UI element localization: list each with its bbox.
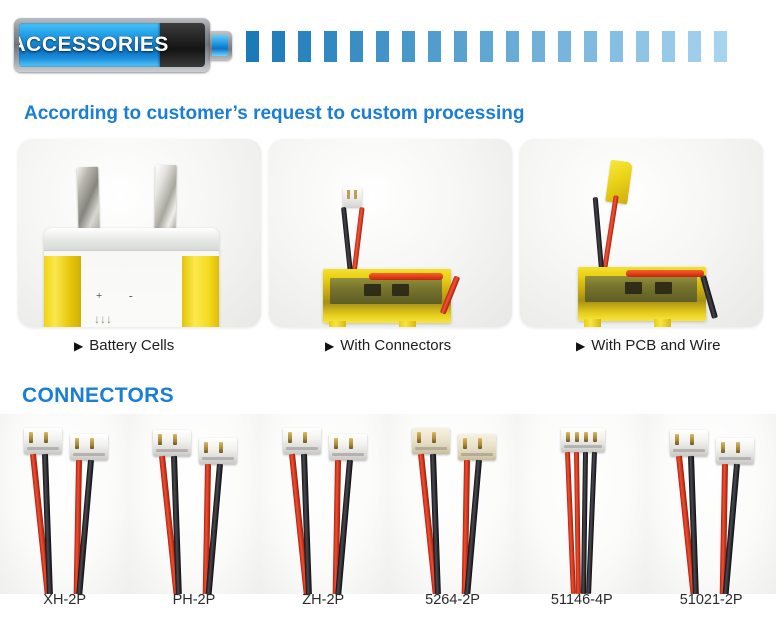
connector-pin	[303, 432, 307, 443]
cell-body: + - ↓↓↓	[44, 228, 219, 327]
connector-pin	[575, 432, 579, 442]
connector-pin	[347, 190, 350, 199]
connector-label: PH-2P	[129, 592, 258, 608]
pack-red-wire	[602, 195, 619, 269]
pack-leg-right	[654, 319, 671, 327]
caption-label: With PCB and Wire	[591, 337, 720, 354]
connectors-section-title: CONNECTORS	[22, 384, 174, 408]
pcb-chip	[364, 284, 381, 296]
caption-label: With Connectors	[340, 337, 451, 354]
connector-image-51146-4p[interactable]	[517, 414, 646, 594]
header-dash	[532, 31, 545, 62]
pack-black-wire	[593, 197, 605, 273]
connector-label: 51021-2P	[646, 592, 775, 608]
header-dash	[350, 31, 363, 62]
cell-secondary-marks: ↓↓↓	[94, 312, 112, 327]
connector-housing	[561, 428, 605, 452]
header-dash	[688, 31, 701, 62]
header-dash	[662, 31, 675, 62]
connector-pin	[29, 432, 33, 443]
connector-slot	[332, 453, 364, 456]
connector-slot	[73, 453, 105, 456]
connector-housing	[24, 428, 62, 454]
connector-housing	[199, 438, 237, 464]
battery-cell-photo: + - ↓↓↓	[18, 139, 261, 327]
triangle-bullet-icon: ▶	[74, 340, 83, 352]
connector-pin	[158, 434, 162, 445]
connector-housing	[670, 430, 708, 456]
connector-housing	[153, 430, 191, 456]
connector-pin	[334, 438, 338, 449]
connector-black-wire	[586, 452, 597, 594]
connector-red-wire	[574, 452, 581, 594]
connector-housing	[716, 438, 754, 464]
connector-pin	[75, 438, 79, 449]
connector-label: 5264-2P	[388, 592, 517, 608]
connector-pin	[463, 438, 467, 449]
header-dash	[506, 31, 519, 62]
header-dash	[428, 31, 441, 62]
pack-illustration-pcb-wire	[520, 139, 763, 327]
connector-slot	[156, 449, 188, 452]
connector-slot	[719, 457, 751, 460]
connector-pin	[349, 438, 353, 449]
connector-pin	[566, 432, 570, 442]
connector-pin	[90, 438, 94, 449]
connector-housing	[412, 428, 450, 454]
header-dash	[402, 31, 415, 62]
pack-body	[323, 269, 451, 323]
connector-pin	[593, 432, 597, 442]
connector-pin	[584, 432, 588, 442]
cell-tape-right	[182, 256, 219, 327]
connector-label: 51146-4P	[517, 592, 646, 608]
connector-slot	[415, 447, 447, 450]
header-dash	[454, 31, 467, 62]
battery-icon: ACCESSORIES	[14, 18, 232, 72]
cell-illustration: + - ↓↓↓	[18, 139, 261, 327]
connector-housing	[70, 434, 108, 460]
header-dash	[376, 31, 389, 62]
connector-label: ZH-2P	[259, 592, 388, 608]
header-dash-strip	[246, 31, 740, 62]
pack-leg-right	[399, 321, 416, 327]
connector-slot	[202, 457, 234, 460]
connector-slot	[673, 449, 705, 452]
header-dash	[714, 31, 727, 62]
connector-pin	[44, 432, 48, 443]
pack-leg-left	[329, 321, 346, 327]
connector-housing	[458, 434, 496, 460]
battery-cap-inner	[212, 35, 228, 56]
header-dash	[610, 31, 623, 62]
connector-pin	[721, 442, 725, 453]
connector-pin	[219, 442, 223, 453]
pack-connector-head	[343, 187, 362, 207]
caption-label: Battery Cells	[89, 337, 174, 354]
connector-slot	[286, 447, 318, 450]
connector-pin	[417, 432, 421, 443]
connector-housing	[283, 428, 321, 454]
header-dash	[298, 31, 311, 62]
header-dash	[324, 31, 337, 62]
cell-tape-left	[44, 256, 81, 327]
caption-battery-cells: ▶ Battery Cells	[18, 337, 261, 354]
connector-pin	[354, 190, 357, 199]
connector-slot	[27, 447, 59, 450]
photo-row: + - ↓↓↓	[18, 139, 758, 329]
connector-image-zh-2p[interactable]	[259, 414, 388, 594]
pack-pcb	[330, 278, 442, 304]
connector-image-5264-2p[interactable]	[388, 414, 517, 594]
header-dash	[480, 31, 493, 62]
with-pcb-and-wire-photo	[520, 139, 763, 327]
cell-seal	[44, 228, 219, 251]
connector-pin	[173, 434, 177, 445]
page-header: ACCESSORIES	[0, 0, 776, 92]
connector-pin	[288, 432, 292, 443]
pack-yellow-flag	[605, 160, 633, 205]
battery-inner: ACCESSORIES	[19, 23, 205, 67]
connector-image-xh-2p[interactable]	[0, 414, 129, 594]
with-connectors-photo	[269, 139, 512, 327]
connector-pin	[690, 434, 694, 445]
connector-image-51021-2p[interactable]	[646, 414, 775, 594]
battery-cap	[210, 31, 232, 60]
connector-housing	[329, 434, 367, 460]
header-dash	[636, 31, 649, 62]
connector-pin	[478, 438, 482, 449]
cell-polarity-marks: + -	[96, 290, 171, 302]
triangle-bullet-icon: ▶	[576, 340, 585, 352]
header-dash	[558, 31, 571, 62]
pack-red-tape	[626, 270, 704, 277]
pack-leg-left	[584, 319, 601, 327]
connector-slot	[461, 453, 493, 456]
header-dash	[584, 31, 597, 62]
connector-label-row: XH-2PPH-2PZH-2P5264-2P51146-4P51021-2P	[0, 592, 776, 608]
connector-image-ph-2p[interactable]	[129, 414, 258, 594]
page-title: According to customer’s request to custo…	[24, 103, 524, 125]
pack-red-tape	[369, 273, 443, 280]
caption-with-pcb-and-wire: ▶ With PCB and Wire	[520, 337, 763, 354]
pcb-chip	[625, 282, 642, 294]
pack-illustration-connectors	[269, 139, 512, 327]
connector-gallery	[0, 414, 776, 594]
header-dash	[272, 31, 285, 62]
triangle-bullet-icon: ▶	[325, 340, 334, 352]
accessories-badge-label: ACCESSORIES	[19, 23, 160, 67]
connector-pin	[432, 432, 436, 443]
connector-pin	[736, 442, 740, 453]
pcb-chip	[655, 282, 672, 294]
connector-pin	[204, 442, 208, 453]
header-dash	[246, 31, 259, 62]
connector-label: XH-2P	[0, 592, 129, 608]
connector-pin	[675, 434, 679, 445]
pcb-chip	[392, 284, 409, 296]
caption-with-connectors: ▶ With Connectors	[269, 337, 512, 354]
pack-body	[578, 267, 706, 321]
connector-slot	[564, 445, 602, 448]
battery-body: ACCESSORIES	[14, 18, 210, 72]
photo-caption-row: ▶ Battery Cells ▶ With Connectors ▶ With…	[18, 337, 758, 354]
pack-pcb	[585, 276, 697, 302]
